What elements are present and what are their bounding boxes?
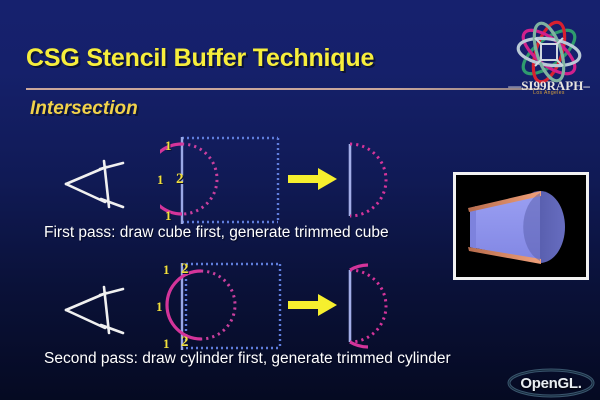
result-dotted-arc bbox=[350, 270, 386, 342]
stencil-label: 2 bbox=[176, 171, 184, 188]
stencil-label: 1 bbox=[157, 172, 164, 188]
stencil-label: 2 bbox=[181, 261, 189, 278]
dotted-circle-arc bbox=[201, 271, 235, 339]
row-caption: Second pass: draw cylinder first, genera… bbox=[44, 350, 451, 368]
opengl-logo: OpenGL. bbox=[505, 368, 597, 398]
stencil-label: 1 bbox=[165, 138, 172, 154]
csg-render-geometry bbox=[456, 175, 586, 277]
stencil-label: 1 bbox=[165, 208, 172, 224]
result-solid-arc-bottom bbox=[350, 342, 368, 347]
construction-cylinder-first bbox=[160, 258, 290, 358]
stencil-label: 2 bbox=[181, 334, 189, 351]
result-dotted-arc bbox=[350, 144, 386, 216]
camera-frustum-icon bbox=[60, 157, 128, 213]
row-caption: First pass: draw cube first, generate tr… bbox=[44, 224, 389, 242]
page-title: CSG Stencil Buffer Technique bbox=[26, 44, 374, 73]
solid-circle-arc bbox=[167, 271, 201, 339]
result-solid-arc-top bbox=[350, 265, 368, 270]
camera-frustum-icon bbox=[60, 283, 128, 339]
title-divider bbox=[26, 88, 542, 90]
slide-canvas: CSG Stencil Buffer Technique Intersectio… bbox=[0, 0, 600, 400]
section-subtitle: Intersection bbox=[30, 98, 138, 120]
csg-render-image bbox=[453, 172, 589, 280]
dotted-circle-arc bbox=[182, 144, 217, 214]
stencil-label: 1 bbox=[163, 262, 170, 278]
result-trimmed-cube bbox=[330, 132, 430, 232]
dotted-square bbox=[186, 264, 280, 348]
stencil-label: 1 bbox=[156, 299, 163, 315]
opengl-logo-text: OpenGL. bbox=[505, 368, 597, 398]
siggraph-location: Los Angeles bbox=[503, 90, 595, 96]
result-trimmed-cylinder bbox=[330, 258, 430, 358]
